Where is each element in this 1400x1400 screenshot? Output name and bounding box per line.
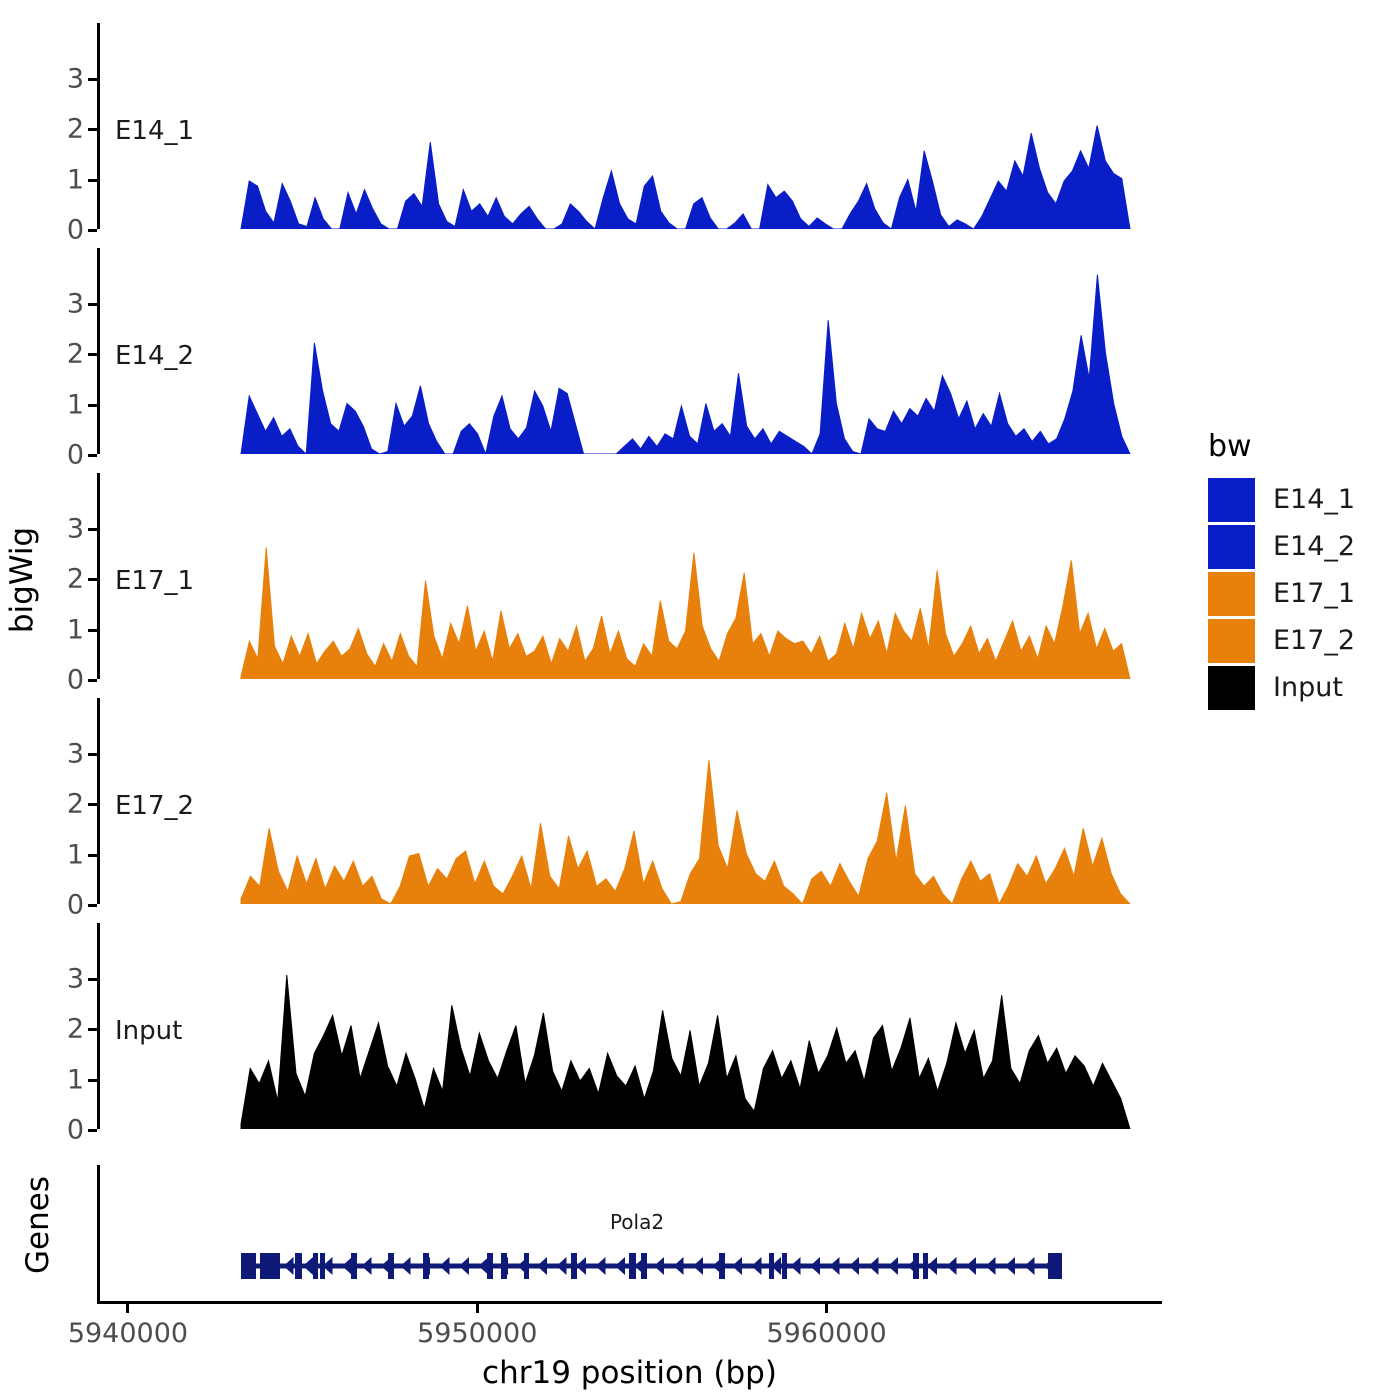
y-tick-label: 2	[67, 114, 84, 145]
y-tick	[88, 1079, 97, 1082]
track-area-e14_2	[100, 248, 1132, 454]
y-tick-label: 0	[67, 665, 84, 696]
y-tick-label: 1	[67, 164, 84, 195]
track-panel-e14_1: 0123E14_1	[97, 23, 1132, 229]
gene-strand-arrow	[362, 1257, 372, 1275]
gene-strand-arrow	[440, 1257, 450, 1275]
gene-strand-arrow	[401, 1257, 411, 1275]
area-path	[241, 548, 1130, 679]
gene-strand-arrow	[1025, 1257, 1035, 1275]
gene-strand-arrow	[615, 1257, 625, 1275]
gene-strand-arrow	[830, 1257, 840, 1275]
gene-strand-arrow	[752, 1257, 762, 1275]
track-panel-e14_2: 0123E14_2	[97, 248, 1132, 454]
gene-exon	[241, 1253, 256, 1279]
legend-title: bw	[1208, 432, 1388, 462]
y-tick	[88, 854, 97, 857]
y-tick	[88, 629, 97, 632]
gene-strand-arrow	[966, 1257, 976, 1275]
y-tick	[88, 578, 97, 581]
x-tick-label: 5950000	[417, 1318, 537, 1349]
legend-label: Input	[1273, 672, 1343, 703]
legend-item-e14_2[interactable]: E14_2	[1208, 523, 1388, 570]
y-tick-label: 3	[67, 63, 84, 94]
y-tick	[88, 303, 97, 306]
legend-label: E14_2	[1273, 531, 1355, 562]
area-path	[241, 275, 1130, 454]
x-tick-label: 5940000	[68, 1318, 188, 1349]
gene-strand-arrow	[557, 1257, 567, 1275]
y-tick-label: 1	[67, 839, 84, 870]
x-axis-line	[97, 1301, 1162, 1304]
gene-strand-arrow	[381, 1257, 391, 1275]
y-axis-title: bigWig	[2, 500, 42, 660]
y-tick	[88, 353, 97, 356]
y-tick	[88, 803, 97, 806]
y-tick-label: 2	[67, 1014, 84, 1045]
track-panel-e17_1: 0123E17_1	[97, 473, 1132, 679]
legend-label: E14_1	[1273, 484, 1355, 515]
area-path	[241, 760, 1130, 904]
gene-strand-arrow	[693, 1257, 703, 1275]
y-tick	[88, 1028, 97, 1031]
gene-strand-arrow	[927, 1257, 937, 1275]
y-tick	[88, 528, 97, 531]
track-panel-input: 0123Input	[97, 923, 1132, 1129]
gene-strand-arrow	[986, 1257, 996, 1275]
gene-strand-arrow	[459, 1257, 469, 1275]
gene-strand-arrow	[732, 1257, 742, 1275]
y-tick	[88, 1129, 97, 1132]
gene-exon	[295, 1253, 302, 1279]
gene-strand-arrow	[888, 1257, 898, 1275]
x-tick	[476, 1304, 479, 1313]
gene-strand-arrow	[791, 1257, 801, 1275]
y-tick-label: 2	[67, 564, 84, 595]
x-tick	[825, 1304, 828, 1313]
area-path	[241, 975, 1130, 1129]
gene-strand-arrow	[810, 1257, 820, 1275]
y-tick-label: 0	[67, 890, 84, 921]
y-tick	[88, 78, 97, 81]
gene-strand-arrow	[947, 1257, 957, 1275]
legend-swatch	[1208, 525, 1255, 569]
legend-swatch	[1208, 478, 1255, 522]
x-axis-title: chr19 position (bp)	[97, 1355, 1162, 1391]
y-tick-label: 3	[67, 738, 84, 769]
track-area-e17_1	[100, 473, 1132, 679]
gene-strand-arrow	[342, 1257, 352, 1275]
legend-swatch	[1208, 666, 1255, 710]
y-tick-label: 0	[67, 1115, 84, 1146]
y-tick-label: 0	[67, 440, 84, 471]
y-tick	[88, 904, 97, 907]
gene-strand-arrow	[849, 1257, 859, 1275]
gene-strand-arrow	[654, 1257, 664, 1275]
track-area-input	[100, 923, 1132, 1129]
legend-swatch	[1208, 619, 1255, 663]
y-tick-label: 2	[67, 339, 84, 370]
area-path	[241, 126, 1130, 230]
gene-strand-arrow	[674, 1257, 684, 1275]
legend-items: E14_1E14_2E17_1E17_2Input	[1208, 476, 1388, 711]
y-tick-label: 3	[67, 513, 84, 544]
y-tick	[88, 128, 97, 131]
y-tick-label: 1	[67, 389, 84, 420]
y-tick	[88, 454, 97, 457]
gene-strand-arrow	[908, 1257, 918, 1275]
legend-item-e14_1[interactable]: E14_1	[1208, 476, 1388, 523]
track-area-e14_1	[100, 23, 1132, 229]
y-tick	[88, 404, 97, 407]
y-tick-label: 1	[67, 1064, 84, 1095]
track-area-e17_2	[100, 698, 1132, 904]
y-tick-label: 3	[67, 288, 84, 319]
gene-exon	[782, 1253, 787, 1279]
gene-exon	[313, 1253, 318, 1279]
x-tick	[126, 1304, 129, 1313]
genes-panel: Pola2	[97, 1165, 1132, 1301]
legend-item-e17_1[interactable]: E17_1	[1208, 570, 1388, 617]
legend: bw E14_1E14_2E17_1E17_2Input	[1208, 432, 1388, 711]
y-tick	[88, 229, 97, 232]
gene-strand-arrow	[713, 1257, 723, 1275]
y-tick-label: 0	[67, 215, 84, 246]
legend-label: E17_1	[1273, 578, 1355, 609]
legend-label: E17_2	[1273, 625, 1355, 656]
genes-axis-title: Genes	[18, 1165, 58, 1285]
y-tick-label: 3	[67, 963, 84, 994]
gene-strand-arrow	[284, 1257, 294, 1275]
y-tick	[88, 753, 97, 756]
y-tick-label: 2	[67, 789, 84, 820]
gene-strand-arrow	[479, 1257, 489, 1275]
gene-strand-arrow	[869, 1257, 879, 1275]
legend-item-input[interactable]: Input	[1208, 664, 1388, 711]
gene-strand-arrow	[596, 1257, 606, 1275]
gene-strand-arrow	[537, 1257, 547, 1275]
gene-exon	[1048, 1253, 1062, 1279]
y-tick	[88, 679, 97, 682]
y-tick	[88, 179, 97, 182]
track-panel-e17_2: 0123E17_2	[97, 698, 1132, 904]
x-tick-label: 5960000	[766, 1318, 886, 1349]
y-tick-label: 1	[67, 614, 84, 645]
gene-model[interactable]	[100, 1165, 1132, 1301]
legend-item-e17_2[interactable]: E17_2	[1208, 617, 1388, 664]
y-tick	[88, 978, 97, 981]
gene-strand-arrow	[1005, 1257, 1015, 1275]
gene-strand-arrow	[576, 1257, 586, 1275]
gene-strand-arrow	[518, 1257, 528, 1275]
legend-swatch	[1208, 572, 1255, 616]
gene-strand-arrow	[303, 1257, 313, 1275]
